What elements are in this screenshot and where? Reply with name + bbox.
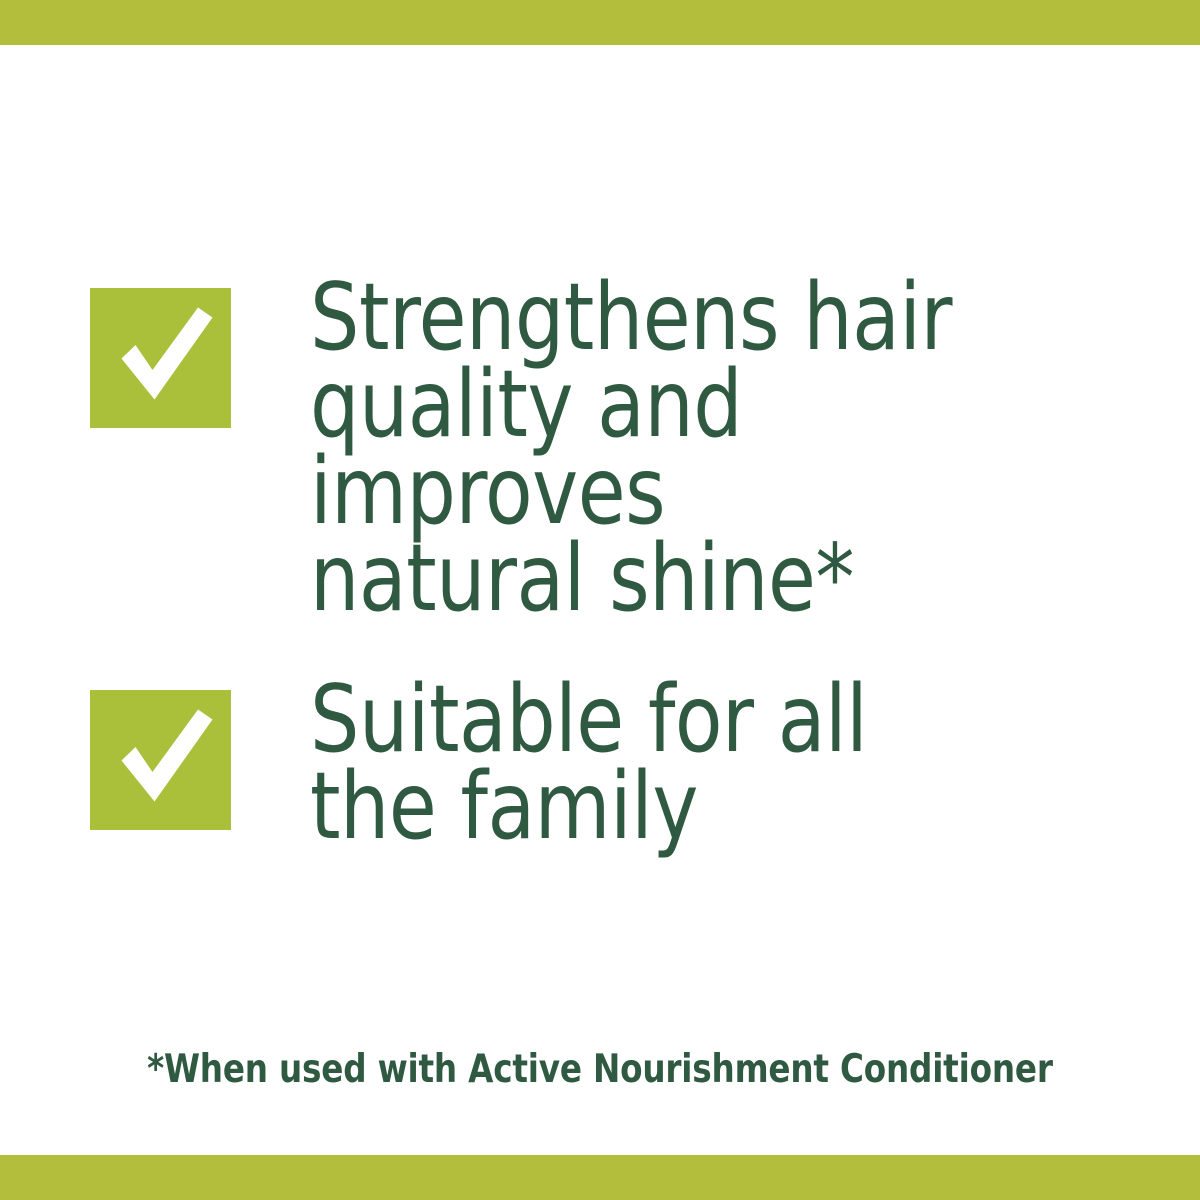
- check-mark-icon: [90, 690, 231, 830]
- benefit-text: Suitable for all the family: [310, 676, 1054, 850]
- top-accent-bar: [0, 0, 1200, 45]
- benefits-list: Strengthens hair quality and improves na…: [90, 288, 1110, 850]
- benefit-text: Strengthens hair quality and improves na…: [310, 274, 1054, 622]
- footnote-text: *When used with Active Nourishment Condi…: [147, 1047, 1053, 1093]
- bottom-accent-bar: [0, 1155, 1200, 1200]
- product-benefits-card: Strengthens hair quality and improves na…: [0, 0, 1200, 1200]
- benefit-item: Strengthens hair quality and improves na…: [90, 288, 1110, 622]
- footnote: *When used with Active Nourishment Condi…: [0, 1047, 1200, 1093]
- check-mark-icon: [90, 288, 231, 428]
- benefit-item: Suitable for all the family: [90, 690, 1110, 850]
